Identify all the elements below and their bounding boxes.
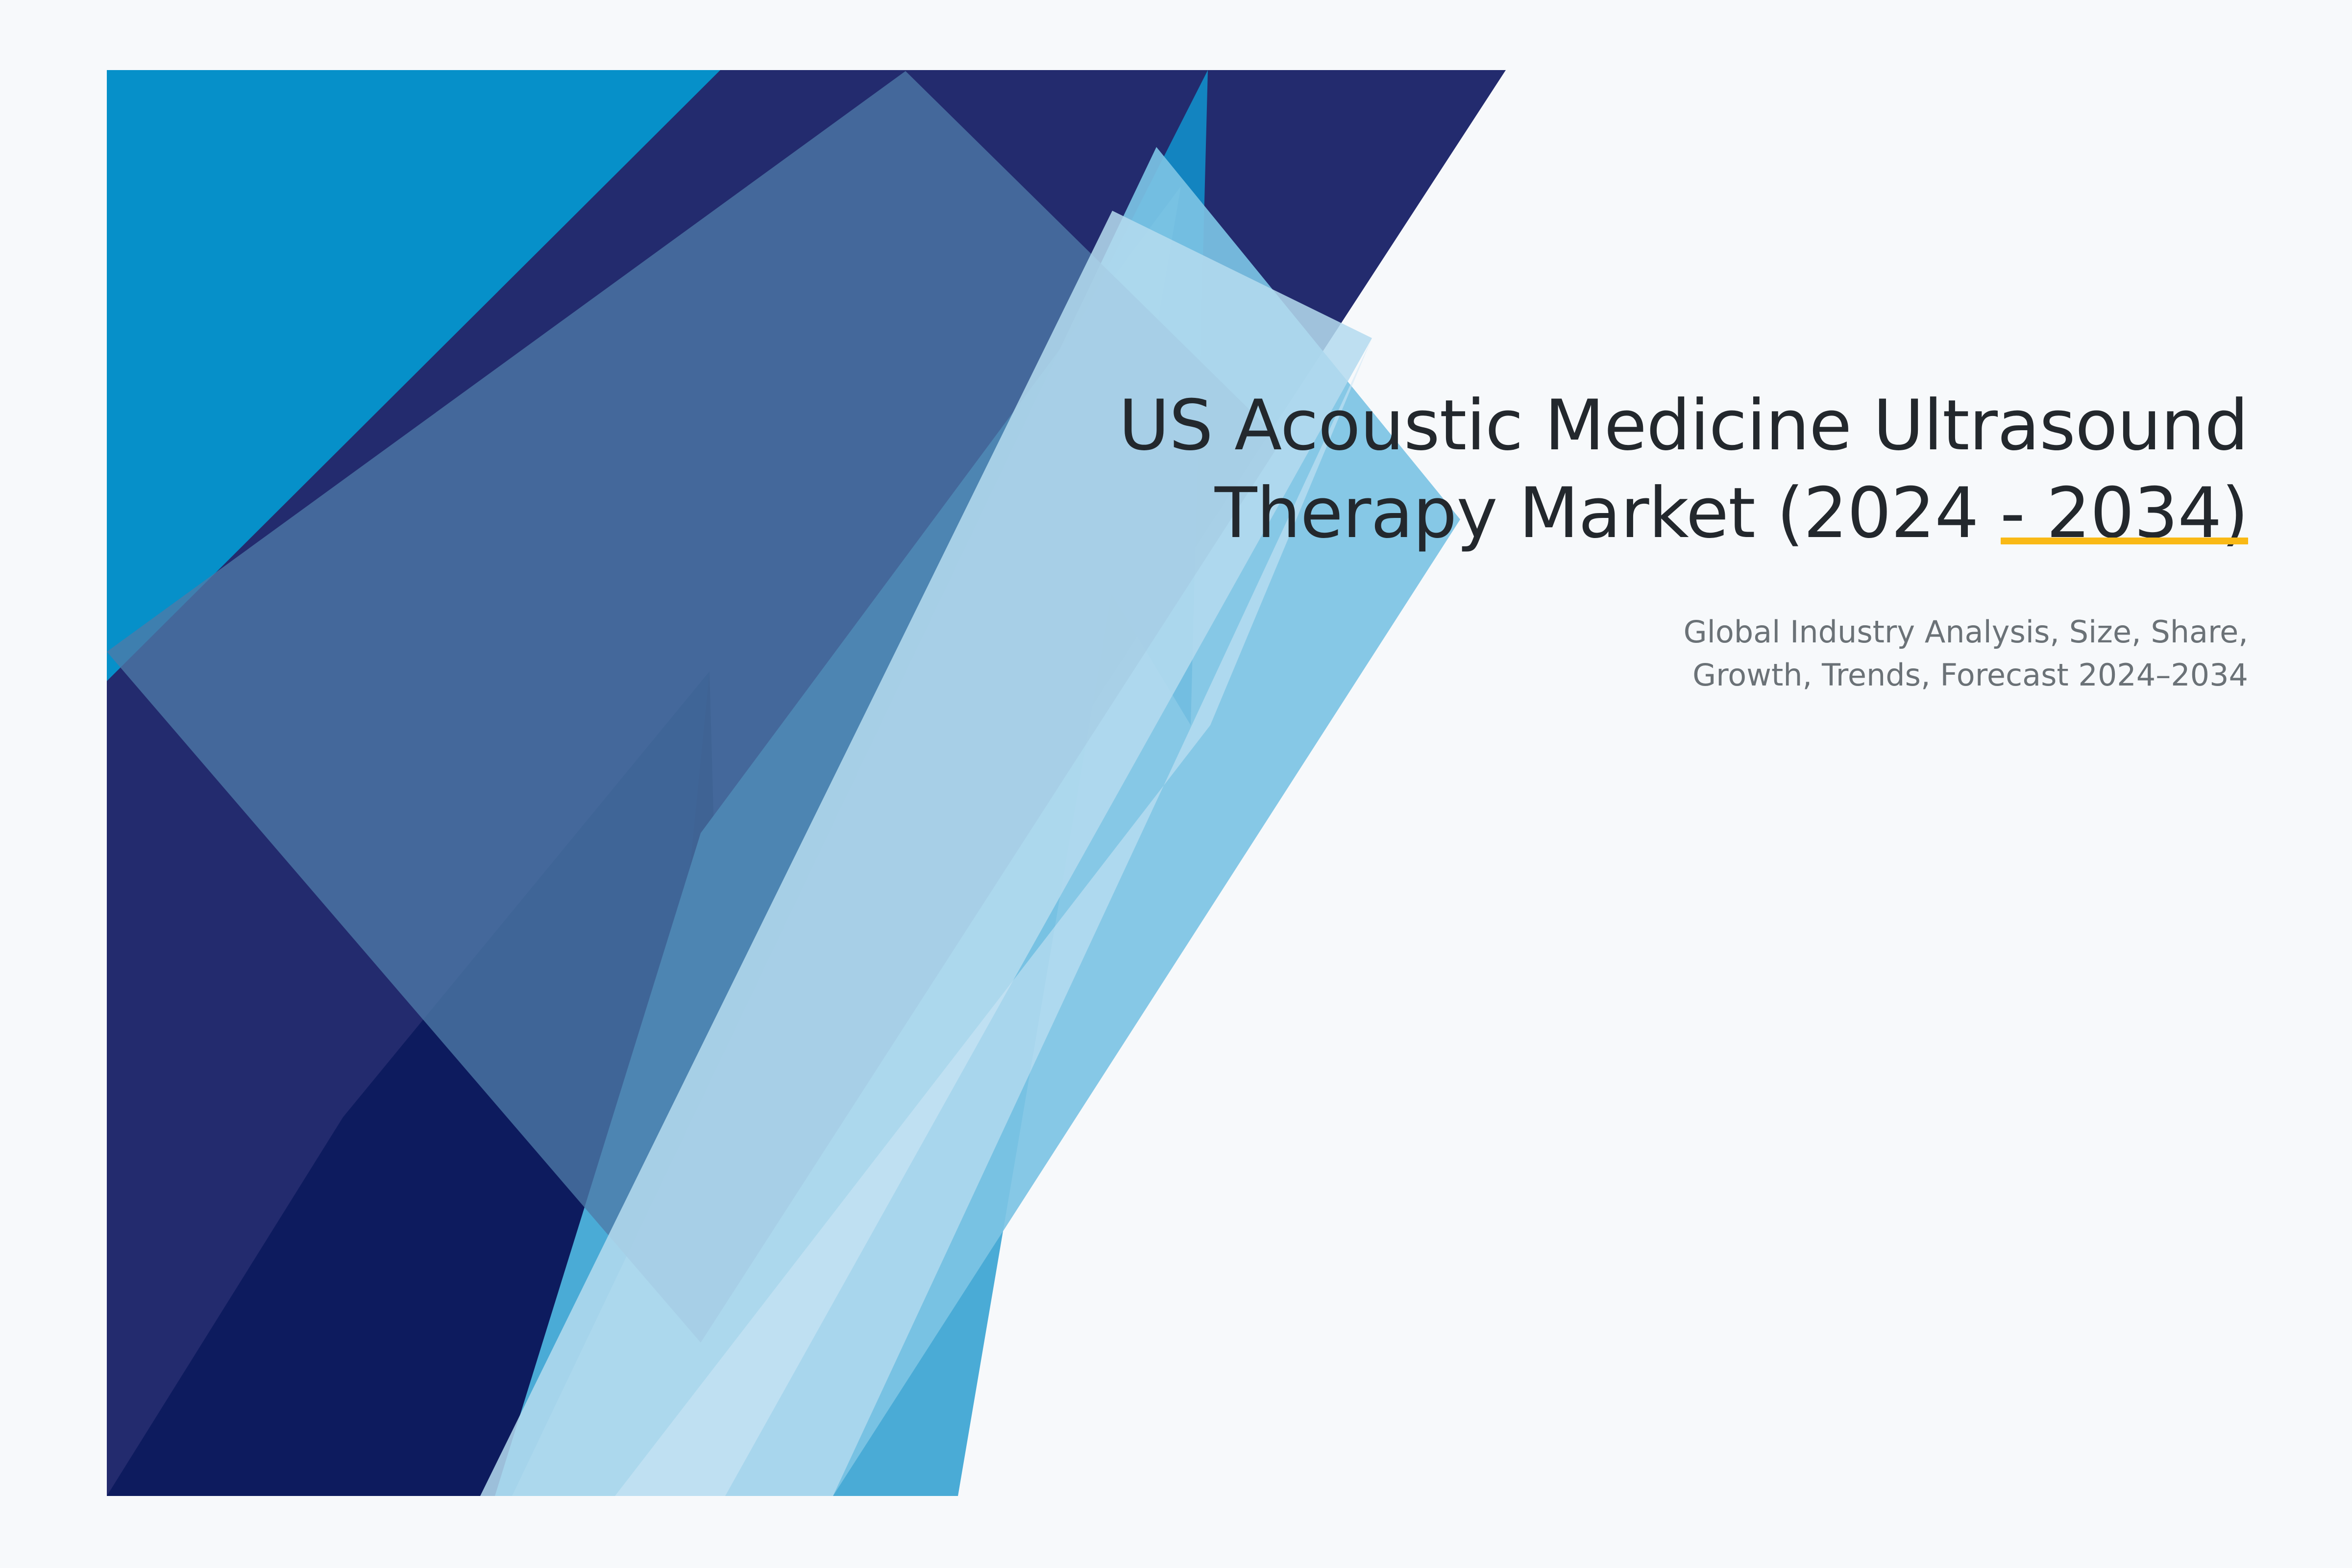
- subtitle-line-2: Growth, Trends, Forecast 2024–2034: [1692, 657, 2248, 693]
- page-title: US Acoustic Medicine UltrasoundTherapy M…: [931, 382, 2248, 558]
- title-accent-underline: [2001, 538, 2248, 544]
- report-cover: US Acoustic Medicine UltrasoundTherapy M…: [0, 0, 2352, 1568]
- title-wrapper: US Acoustic Medicine UltrasoundTherapy M…: [931, 382, 2248, 558]
- title-line-1: US Acoustic Medicine Ultrasound: [1119, 385, 2248, 466]
- abstract-geometric-artwork: [0, 0, 2352, 1568]
- subtitle-line-1: Global Industry Analysis, Size, Share,: [1684, 614, 2248, 650]
- cover-text-block: US Acoustic Medicine UltrasoundTherapy M…: [931, 382, 2248, 697]
- cover-subtitle: Global Industry Analysis, Size, Share,Gr…: [931, 558, 2248, 697]
